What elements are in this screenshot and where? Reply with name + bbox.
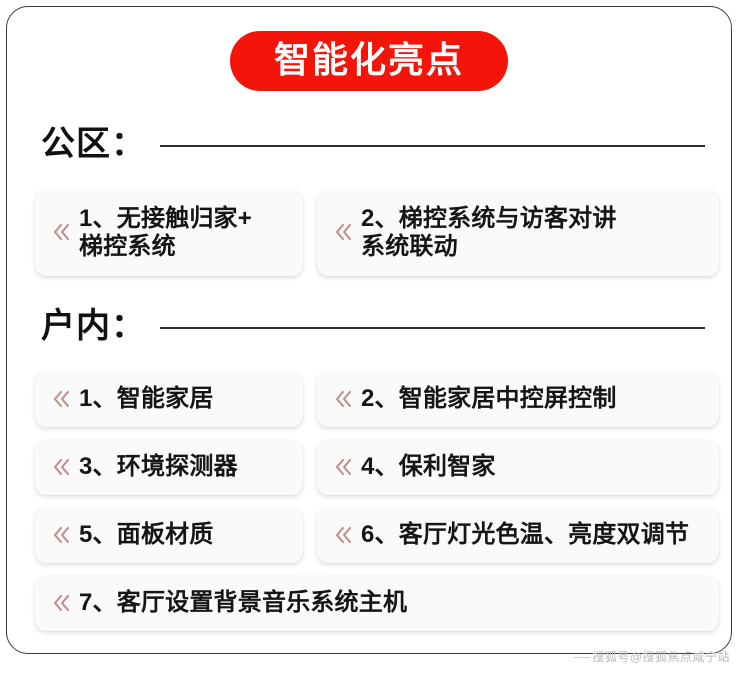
- list-item[interactable]: 4、保利智家: [317, 440, 719, 495]
- list-item-label: 2、梯控系统与访客对讲 系统联动: [361, 205, 617, 262]
- page-title: 智能化亮点: [274, 42, 464, 78]
- list-item-label: 2、智能家居中控屏控制: [361, 385, 617, 413]
- double-chevron-left-icon: [332, 388, 354, 410]
- title-badge-wrap: 智能化亮点: [7, 31, 731, 91]
- section-label-public-area: 公区：: [41, 127, 146, 161]
- section-header-public-area: 公区：: [41, 127, 705, 161]
- list-item[interactable]: 2、梯控系统与访客对讲 系统联动: [317, 190, 719, 276]
- list-item[interactable]: 1、智能家居: [35, 372, 303, 427]
- list-item[interactable]: 7、客厅设置背景音乐系统主机: [35, 576, 719, 631]
- list-item-label: 7、客厅设置背景音乐系统主机: [79, 589, 407, 617]
- poster-frame: 智能化亮点 公区： 1、无接触归家+ 梯控系统 2、梯控系统与访客对讲 系统联动…: [6, 6, 732, 654]
- double-chevron-left-icon: [50, 456, 72, 478]
- double-chevron-left-icon: [50, 524, 72, 546]
- list-item-label: 6、客厅灯光色温、亮度双调节: [361, 521, 689, 549]
- list-item[interactable]: 5、面板材质: [35, 508, 303, 563]
- title-badge: 智能化亮点: [230, 31, 508, 91]
- section-label-indoor: 户内：: [41, 309, 146, 343]
- double-chevron-left-icon: [50, 592, 72, 614]
- watermark-dash: [574, 657, 590, 658]
- section-divider-indoor: [160, 327, 705, 329]
- list-item-label: 4、保利智家: [361, 453, 496, 481]
- list-item-label: 3、环境探测器: [79, 453, 238, 481]
- double-chevron-left-icon: [332, 221, 354, 243]
- double-chevron-left-icon: [50, 388, 72, 410]
- double-chevron-left-icon: [50, 221, 72, 243]
- list-item[interactable]: 6、客厅灯光色温、亮度双调节: [317, 508, 719, 563]
- list-item-label: 1、智能家居: [79, 385, 214, 413]
- double-chevron-left-icon: [332, 524, 354, 546]
- list-item[interactable]: 2、智能家居中控屏控制: [317, 372, 719, 427]
- list-item[interactable]: 3、环境探测器: [35, 440, 303, 495]
- double-chevron-left-icon: [332, 456, 354, 478]
- watermark-text: 搜狐号@搜狐焦点咸宁站: [592, 650, 730, 664]
- list-item[interactable]: 1、无接触归家+ 梯控系统: [35, 190, 303, 276]
- section-header-indoor: 户内：: [41, 309, 705, 343]
- section-divider-public-area: [160, 145, 705, 147]
- list-item-label: 5、面板材质: [79, 521, 214, 549]
- list-item-label: 1、无接触归家+ 梯控系统: [79, 205, 252, 262]
- watermark: 搜狐号@搜狐焦点咸宁站: [574, 648, 730, 665]
